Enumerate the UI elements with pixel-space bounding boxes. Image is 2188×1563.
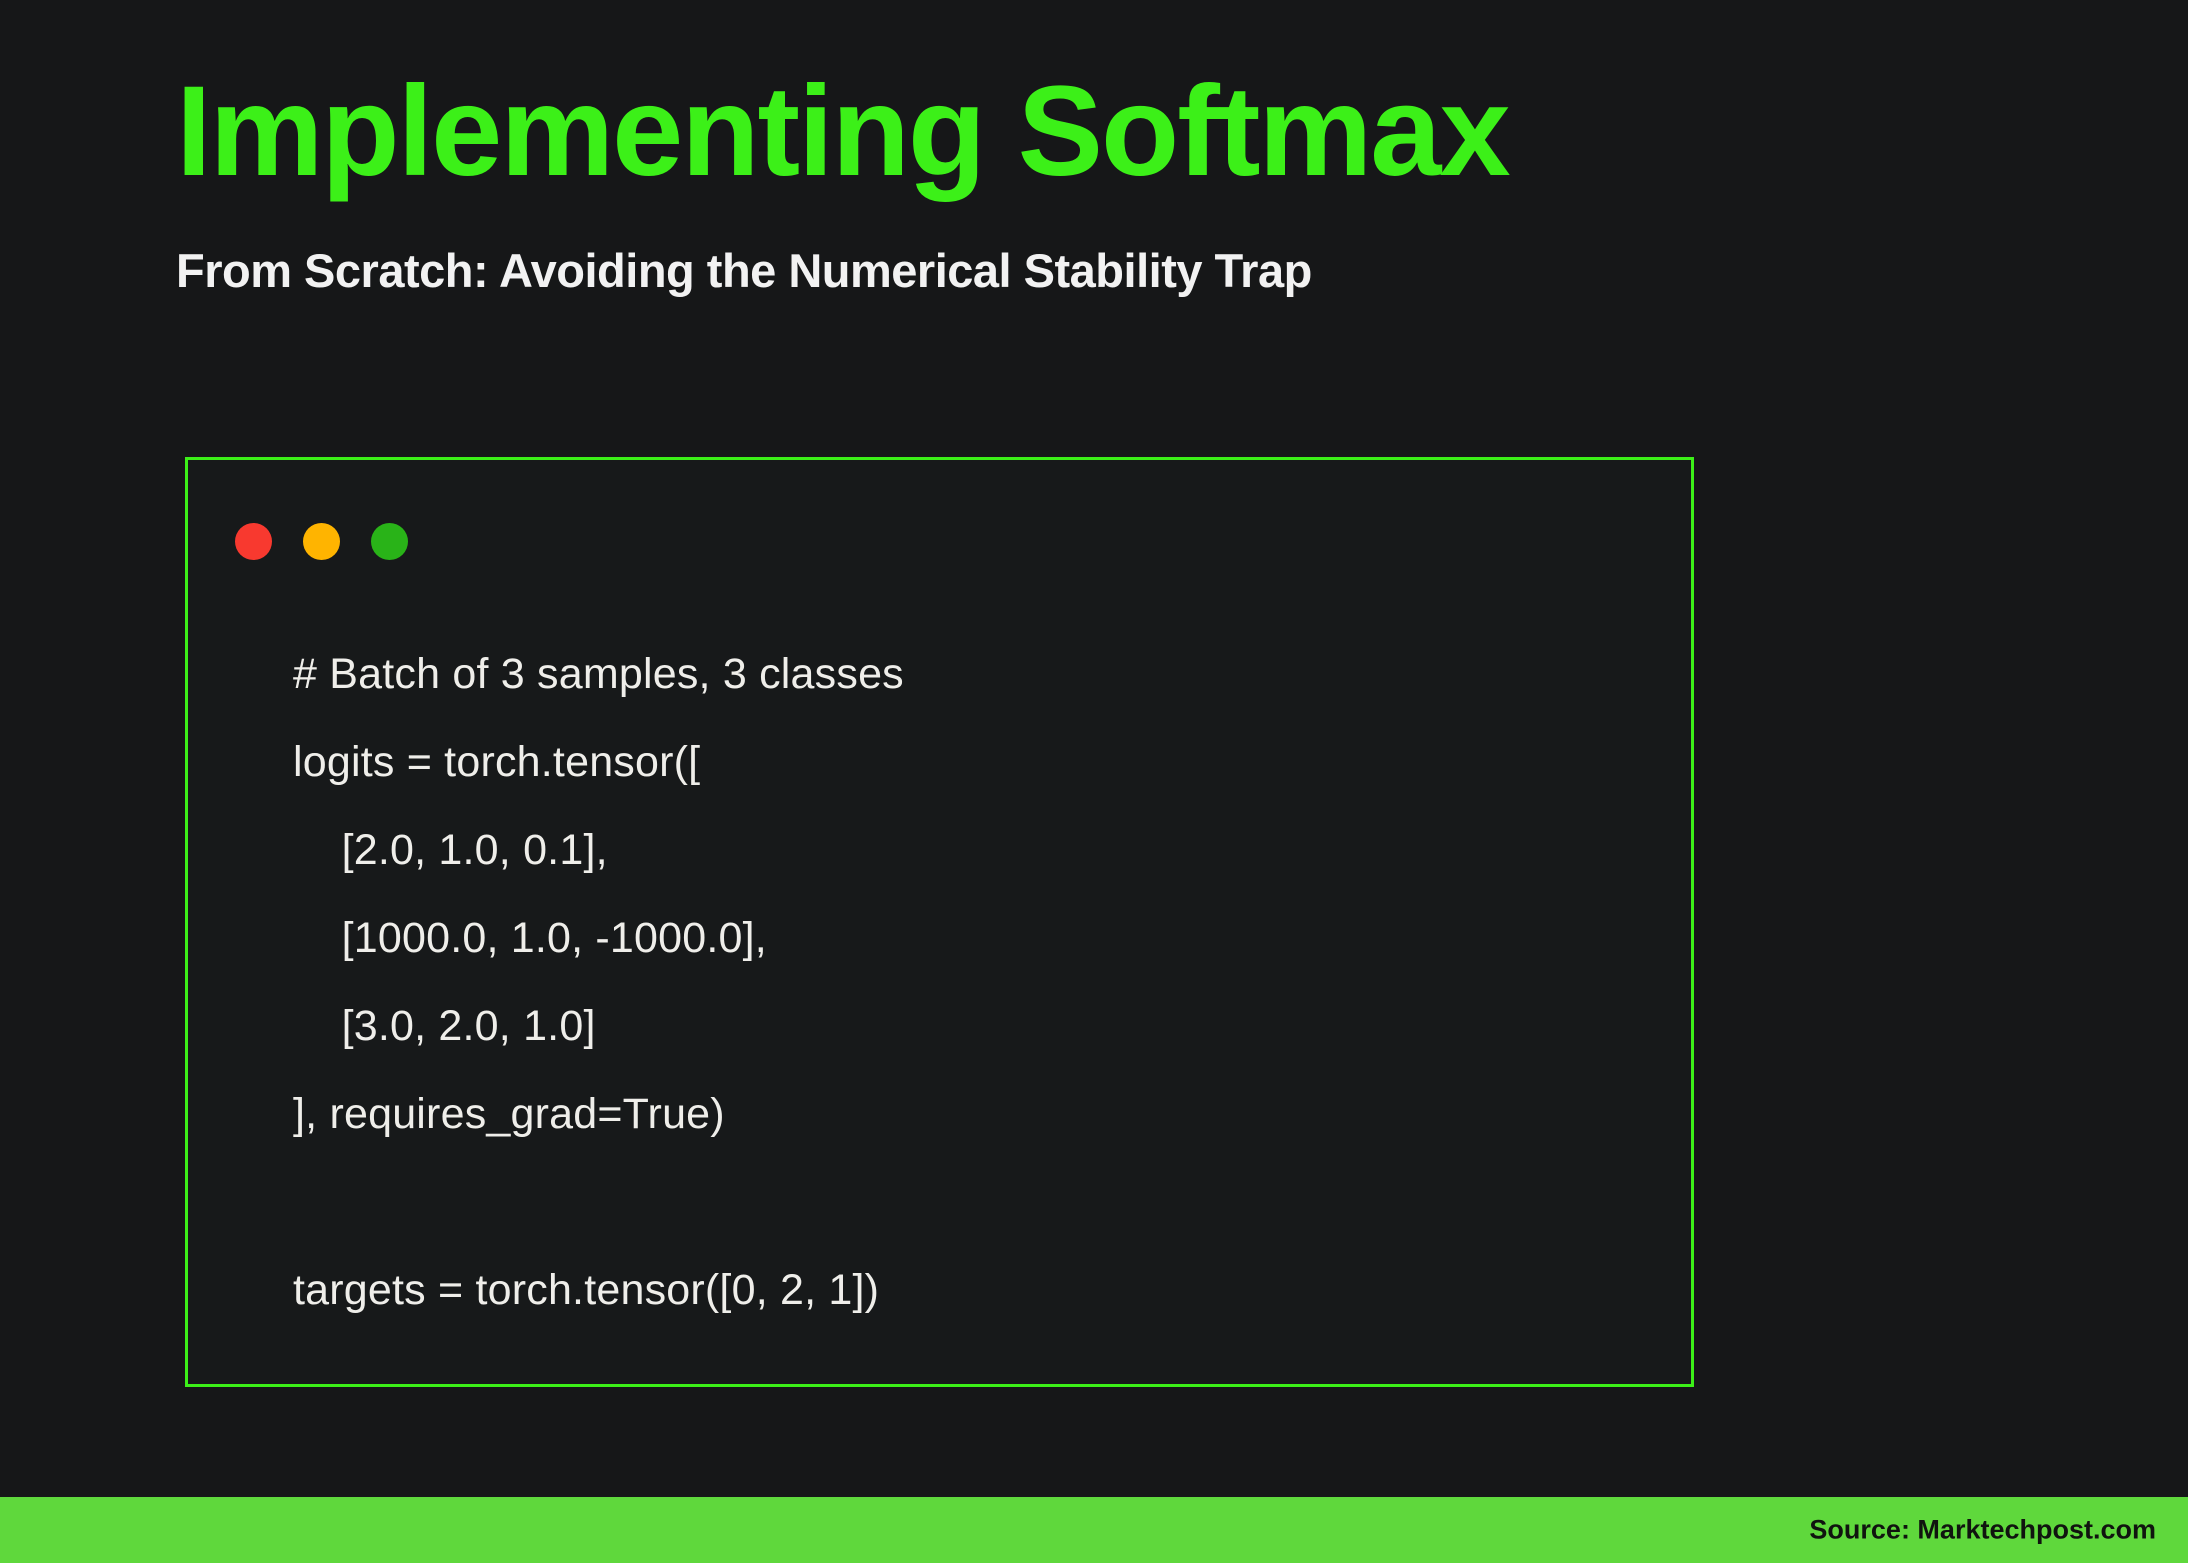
- code-block: # Batch of 3 samples, 3 classes logits =…: [293, 630, 1661, 1334]
- window-controls: [235, 523, 408, 560]
- maximize-window-icon[interactable]: [371, 523, 408, 560]
- code-line: # Batch of 3 samples, 3 classes: [293, 630, 1661, 718]
- page-title: Implementing Softmax: [176, 68, 2076, 196]
- slide-header: Implementing Softmax From Scratch: Avoid…: [176, 68, 2076, 298]
- footer-bar: Source: Marktechpost.com: [0, 1497, 2188, 1563]
- source-label: Source: Marktechpost.com: [1809, 1515, 2156, 1546]
- code-line: targets = torch.tensor([0, 2, 1]): [293, 1246, 1661, 1334]
- code-line: [2.0, 1.0, 0.1],: [293, 806, 1661, 894]
- code-line: [1000.0, 1.0, -1000.0],: [293, 894, 1661, 982]
- code-line: logits = torch.tensor([: [293, 718, 1661, 806]
- minimize-window-icon[interactable]: [303, 523, 340, 560]
- page-subtitle: From Scratch: Avoiding the Numerical Sta…: [176, 196, 2076, 298]
- code-line: [3.0, 2.0, 1.0]: [293, 982, 1661, 1070]
- slide-canvas: Implementing Softmax From Scratch: Avoid…: [0, 0, 2188, 1563]
- close-window-icon[interactable]: [235, 523, 272, 560]
- code-line: ], requires_grad=True): [293, 1070, 1661, 1158]
- code-line-blank: [293, 1158, 1661, 1246]
- code-window: # Batch of 3 samples, 3 classes logits =…: [185, 457, 1694, 1387]
